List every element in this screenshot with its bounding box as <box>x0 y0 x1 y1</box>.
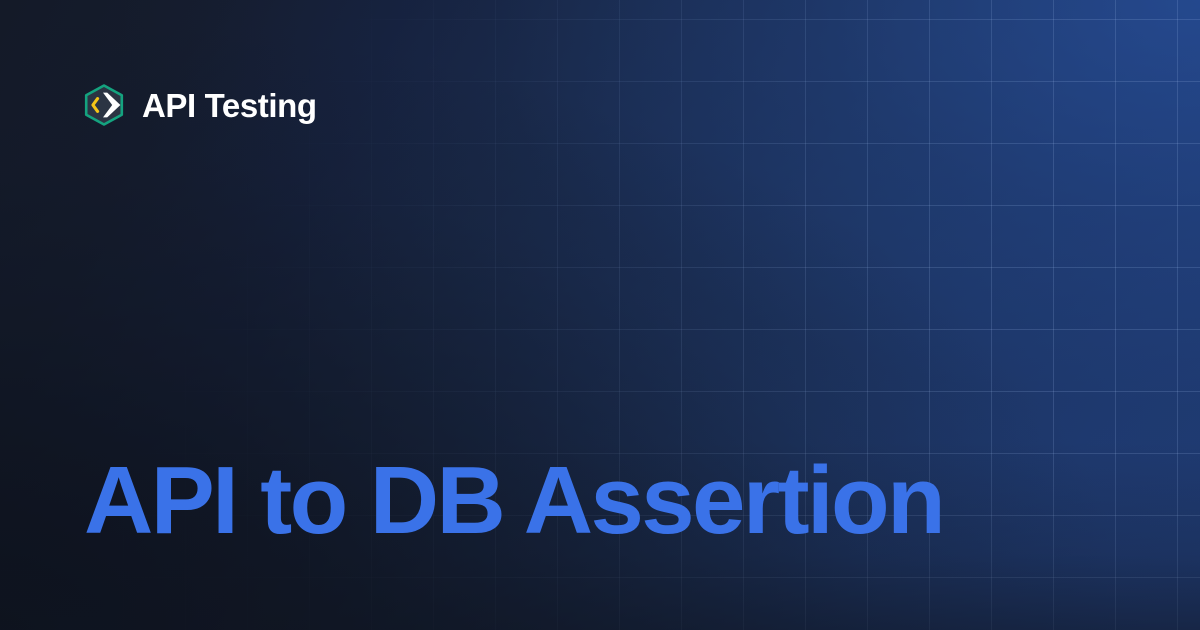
og-social-card: API Testing API to DB Assertion <box>0 0 1200 630</box>
page-title: API to DB Assertion <box>84 451 943 552</box>
hexagon-code-brackets-logo-icon <box>82 83 126 127</box>
brand-lockup: API Testing <box>82 83 317 127</box>
brand-name-label: API Testing <box>142 89 317 122</box>
